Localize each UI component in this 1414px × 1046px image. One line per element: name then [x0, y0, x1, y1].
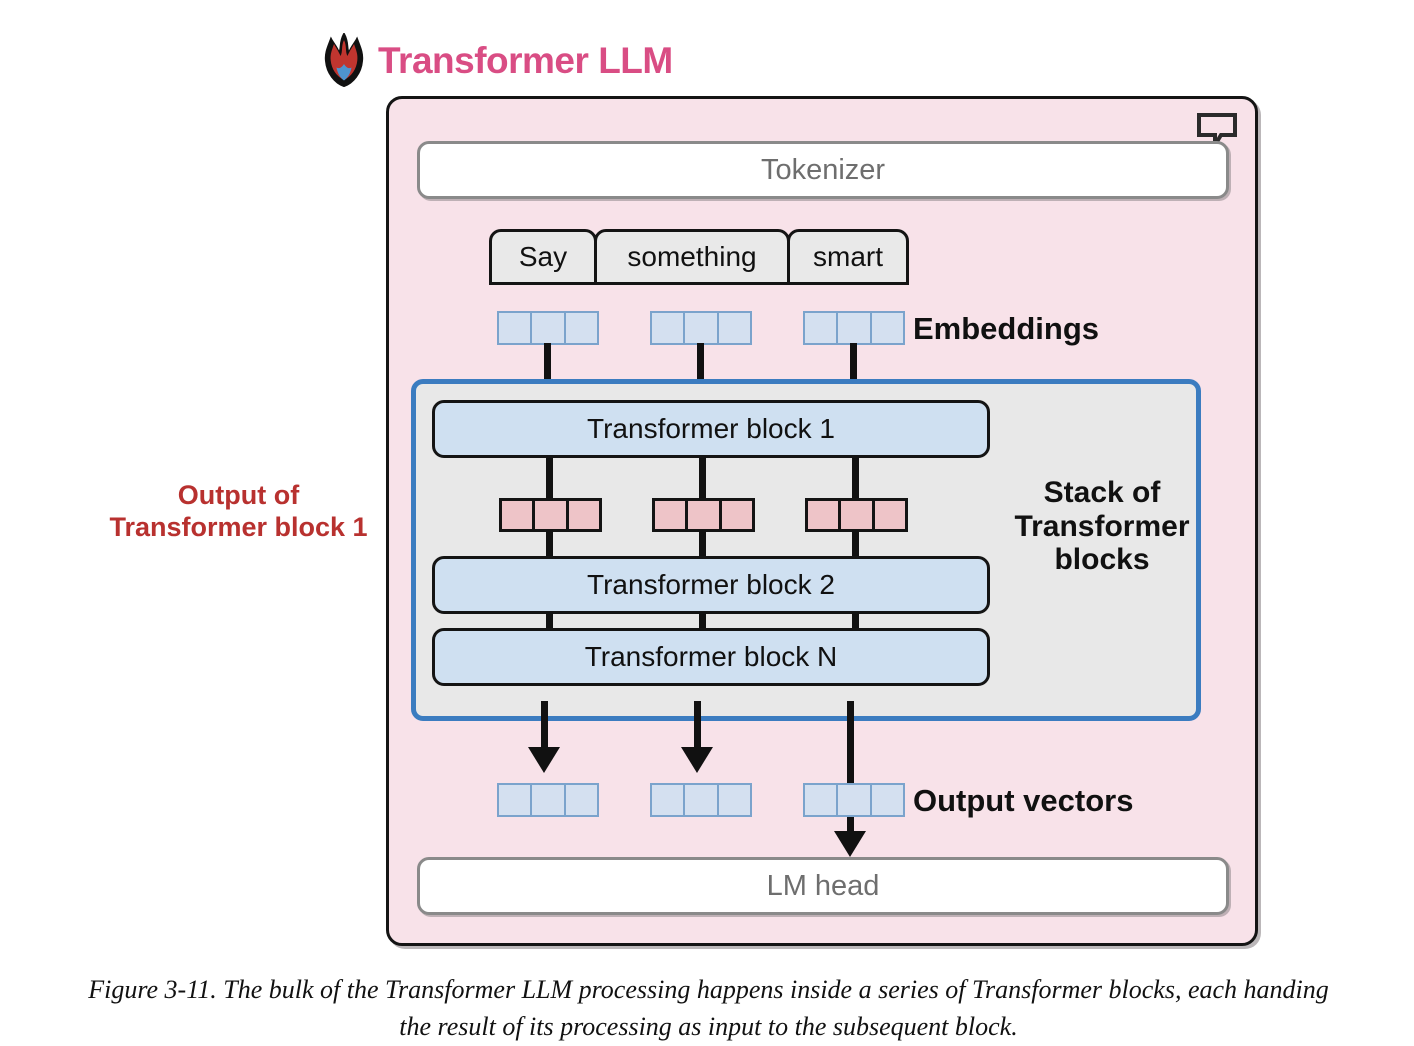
connector-line [699, 458, 706, 498]
figure-title-row: Transformer LLM [322, 33, 673, 87]
intermediate-vector [652, 498, 752, 532]
transformer-block-2[interactable]: Transformer block 2 [432, 556, 990, 614]
vector-cell [652, 498, 688, 532]
arrow-down-icon [681, 747, 713, 773]
embedding-vector [650, 311, 750, 345]
vector-cell [803, 311, 838, 345]
block-label: Transformer block 1 [587, 413, 835, 445]
vector-cell [497, 311, 532, 345]
vector-cell [805, 498, 841, 532]
figure-caption: Figure 3-11. The bulk of the Transformer… [86, 972, 1331, 1046]
vector-cell [683, 783, 718, 817]
connector-line [694, 701, 701, 751]
token-label: something [627, 241, 756, 273]
annotation-output-of-block-1: Output of Transformer block 1 [96, 480, 381, 544]
vector-cell [499, 498, 535, 532]
vector-cell [685, 498, 721, 532]
connector-line [546, 530, 553, 558]
vector-cell [564, 311, 599, 345]
stack-label-line-1: Stack of [1012, 476, 1192, 510]
token-chip[interactable]: Say [489, 229, 597, 285]
token-row: Say something smart [489, 229, 906, 285]
flame-icon [322, 33, 366, 87]
lm-head-box[interactable]: LM head [417, 857, 1229, 915]
vector-cell [719, 498, 755, 532]
arrow-down-icon [528, 747, 560, 773]
vector-cell [838, 498, 874, 532]
vector-cell [683, 311, 718, 345]
vector-cell [564, 783, 599, 817]
embedding-vector [497, 311, 597, 345]
stack-of-transformer-blocks-label: Stack of Transformer blocks [1012, 476, 1192, 577]
vector-cell [872, 498, 908, 532]
tokenizer-box[interactable]: Tokenizer [417, 141, 1229, 199]
vector-cell [836, 783, 871, 817]
transformer-block-1[interactable]: Transformer block 1 [432, 400, 990, 458]
token-chip[interactable]: smart [787, 229, 909, 285]
annotation-line-2: Transformer block 1 [96, 512, 381, 544]
vector-cell [717, 311, 752, 345]
vector-cell [650, 311, 685, 345]
embeddings-label: Embeddings [913, 311, 1099, 347]
vector-cell [532, 498, 568, 532]
vector-cell [530, 311, 565, 345]
connector-line [852, 458, 859, 498]
vector-cell [836, 311, 871, 345]
embedding-vector [803, 311, 903, 345]
token-label: smart [813, 241, 883, 273]
annotation-line-1: Output of [96, 480, 381, 512]
page-title: Transformer LLM [378, 42, 673, 79]
tokenizer-label: Tokenizer [761, 154, 885, 187]
lm-head-label: LM head [767, 870, 880, 903]
output-vectors-label: Output vectors [913, 783, 1133, 819]
output-vector [650, 783, 750, 817]
token-chip[interactable]: something [594, 229, 790, 285]
block-label: Transformer block N [585, 641, 838, 673]
transformer-stack-container: Transformer block 1 Transformer block 2 [411, 379, 1201, 721]
output-vector [803, 783, 903, 817]
intermediate-vector [805, 498, 905, 532]
vector-cell [717, 783, 752, 817]
vector-cell [497, 783, 532, 817]
token-label: Say [519, 241, 567, 273]
stack-label-line-2: Transformer [1012, 510, 1192, 544]
connector-line [541, 701, 548, 751]
transformer-llm-panel: Tokenizer Say something smart Embeddings [386, 96, 1258, 946]
vector-cell [803, 783, 838, 817]
arrow-down-icon [834, 831, 866, 857]
block-label: Transformer block 2 [587, 569, 835, 601]
stack-label-line-3: blocks [1012, 543, 1192, 577]
transformer-block-n[interactable]: Transformer block N [432, 628, 990, 686]
connector-line [546, 458, 553, 498]
intermediate-vector [499, 498, 599, 532]
vector-cell [870, 311, 905, 345]
vector-cell [870, 783, 905, 817]
connector-line [699, 530, 706, 558]
connector-line [852, 530, 859, 558]
connector-line [847, 701, 854, 847]
vector-cell [566, 498, 602, 532]
vector-cell [530, 783, 565, 817]
vector-cell [650, 783, 685, 817]
output-vector [497, 783, 597, 817]
